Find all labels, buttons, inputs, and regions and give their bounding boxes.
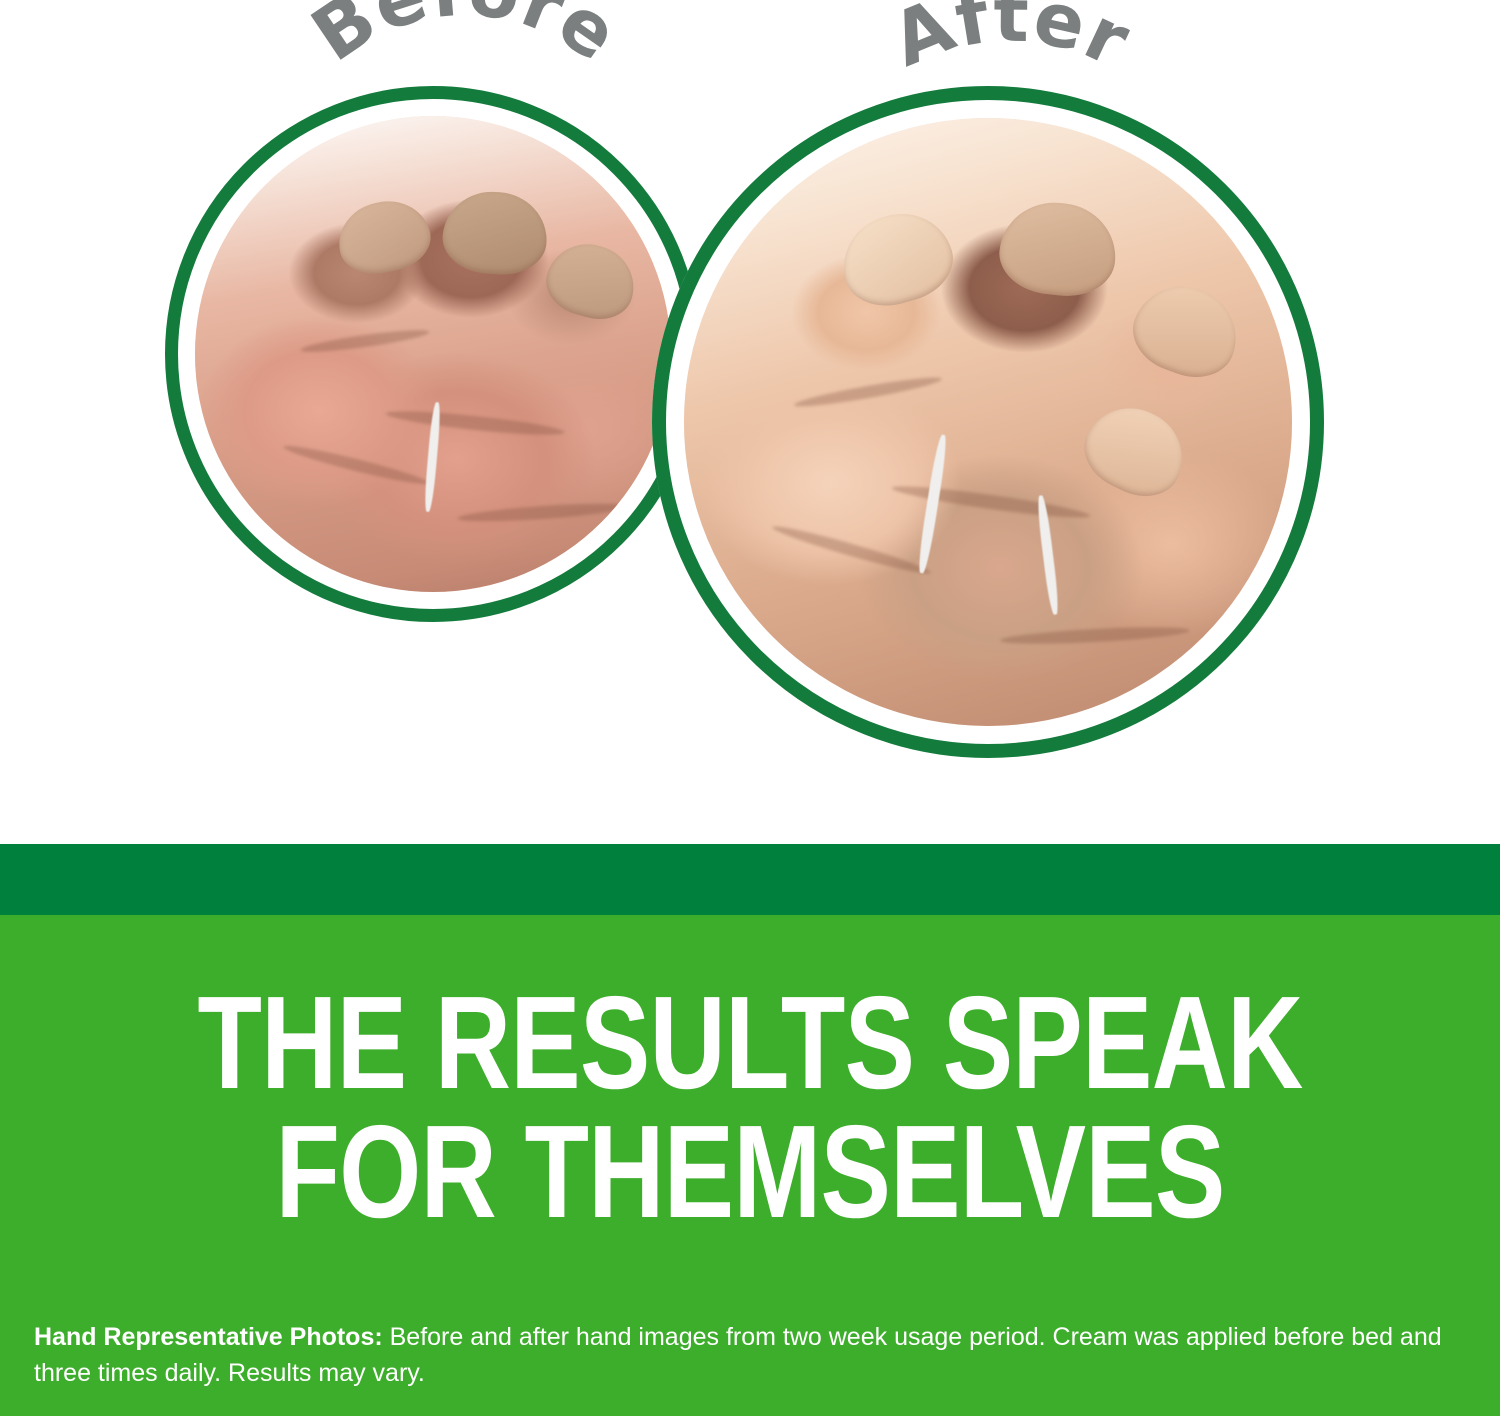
headline-line-1: THE RESULTS SPEAK [150, 978, 1350, 1107]
svg-text:After: After [880, 0, 1142, 84]
disclaimer-lead: Hand Representative Photos: [34, 1323, 383, 1351]
before-circle-ring [165, 86, 701, 622]
after-photo-circle [652, 86, 1324, 758]
promo-banner: Before After THE RESULTS SPEAK FOR THEMS… [0, 0, 1500, 1416]
before-after-photo-area: Before After [0, 0, 1500, 844]
disclaimer: Hand Representative Photos: Before and a… [34, 1320, 1444, 1391]
after-label-text: After [880, 0, 1142, 84]
before-photo-circle [165, 86, 701, 622]
headline: THE RESULTS SPEAK FOR THEMSELVES [150, 978, 1350, 1237]
before-label-text: Before [300, 0, 630, 79]
svg-text:Before: Before [300, 0, 630, 79]
headline-line-2: FOR THEMSELVES [150, 1107, 1350, 1236]
after-circle-ring [652, 86, 1324, 758]
dark-green-divider-band [0, 844, 1500, 915]
